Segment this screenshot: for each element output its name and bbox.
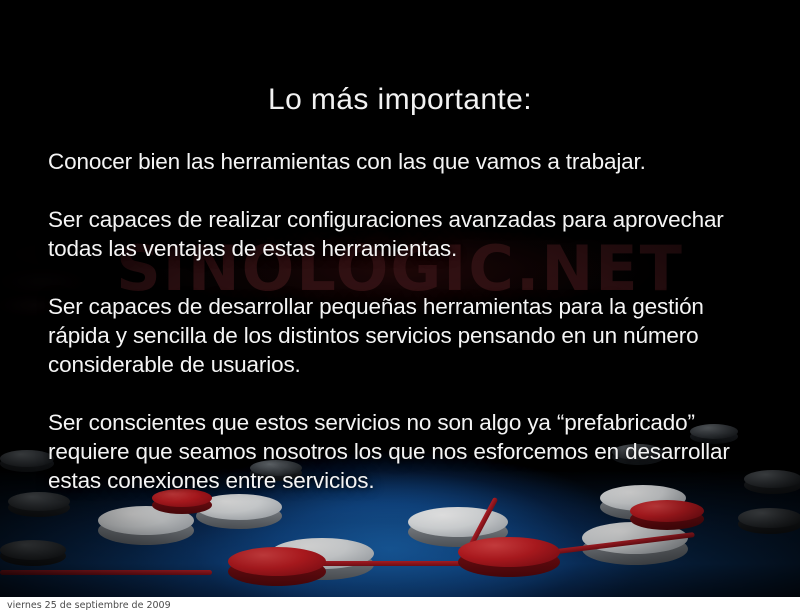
background-disc-halo xyxy=(0,0,108,34)
background-disc-white xyxy=(98,506,194,535)
presentation-slide: SINOLOGIC.NET Lo más importante: Conocer… xyxy=(0,0,800,597)
slide-paragraph: Conocer bien las herramientas con las qu… xyxy=(48,147,760,176)
footer-date: viernes 25 de septiembre de 2009 xyxy=(7,600,171,611)
background-disc-white xyxy=(408,507,508,537)
background-disc-white xyxy=(196,494,282,520)
background-disc-halo xyxy=(0,34,96,64)
background-disc-dark xyxy=(0,450,54,467)
background-connector-line xyxy=(500,532,695,561)
background-connector-line xyxy=(464,497,498,556)
slide-paragraph: Ser capaces de realizar configuraciones … xyxy=(48,205,760,263)
slide-paragraph: Ser conscientes que estos servicios no s… xyxy=(48,408,760,495)
background-connector-line xyxy=(286,561,522,566)
background-disc-red xyxy=(458,537,560,567)
background-disc-dark xyxy=(738,508,800,528)
slide-paragraph: Ser capaces de desarrollar pequeñas herr… xyxy=(48,292,760,379)
slide-title: Lo más importante: xyxy=(0,83,800,117)
slide-body: Conocer bien las herramientas con las qu… xyxy=(48,147,760,495)
background-disc-red xyxy=(630,500,704,522)
background-disc-white xyxy=(582,522,688,554)
background-connector-line xyxy=(0,570,212,575)
background-disc-white xyxy=(270,538,374,569)
background-disc-red xyxy=(228,547,326,576)
background-disc-dark xyxy=(0,540,66,560)
slide-footer: viernes 25 de septiembre de 2009 xyxy=(0,597,800,616)
